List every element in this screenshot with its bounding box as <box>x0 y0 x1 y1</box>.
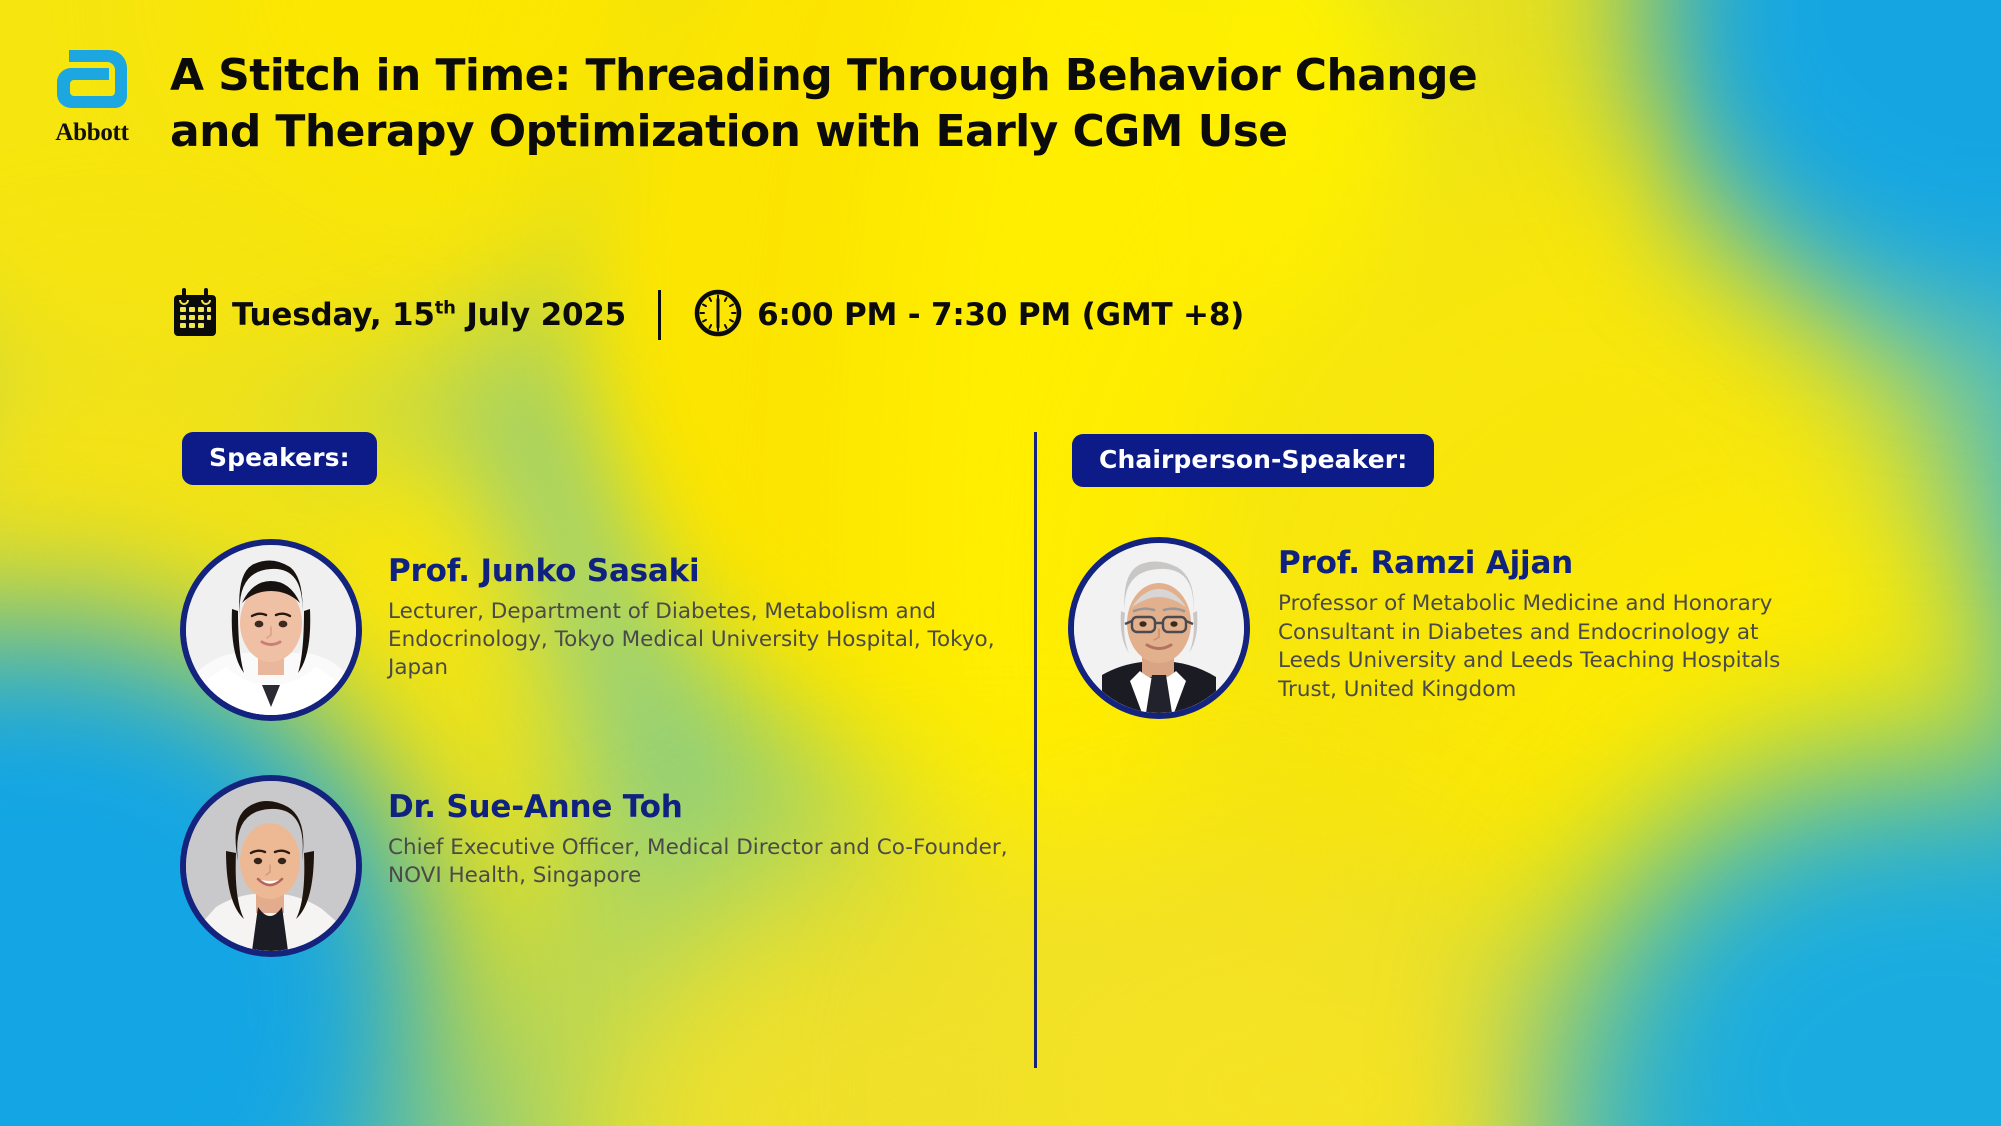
speaker-card: Prof. Ramzi Ajjan Professor of Metabolic… <box>1068 537 1818 719</box>
event-time: 6:00 PM - 7:30 PM (GMT +8) <box>693 288 1244 343</box>
speakers-column: Speakers: <box>180 432 1010 957</box>
title-line-1: A Stitch in Time: Threading Through Beha… <box>170 48 1490 104</box>
date-prefix: Tuesday, 15 <box>232 297 435 333</box>
chairperson-column: Chairperson-Speaker: <box>1068 434 1818 719</box>
date-suffix: July 2025 <box>466 297 626 333</box>
event-date-text: Tuesday, 15th July 2025 <box>232 297 626 333</box>
clock-icon <box>693 288 743 343</box>
event-time-text: 6:00 PM - 7:30 PM (GMT +8) <box>757 297 1244 333</box>
event-date: Tuesday, 15th July 2025 <box>172 288 626 343</box>
portrait-junko-sasaki <box>186 545 356 715</box>
abbott-logo: Abbott <box>47 40 137 147</box>
title-line-2: and Therapy Optimization with Early CGM … <box>170 104 1490 160</box>
abbott-wordmark: Abbott <box>47 119 137 147</box>
calendar-icon <box>172 288 218 343</box>
portrait-sue-anne-toh <box>186 781 356 951</box>
speaker-role: Professor of Metabolic Medicine and Hono… <box>1278 590 1818 704</box>
page-title: A Stitch in Time: Threading Through Beha… <box>170 48 1490 161</box>
avatar <box>1068 537 1250 719</box>
speaker-card: Dr. Sue-Anne Toh Chief Executive Officer… <box>180 775 1010 957</box>
meta-divider <box>658 290 661 340</box>
chairperson-badge: Chairperson-Speaker: <box>1072 434 1434 487</box>
speaker-name: Prof. Ramzi Ajjan <box>1278 545 1818 581</box>
speaker-card: Prof. Junko Sasaki Lecturer, Department … <box>180 539 1010 721</box>
avatar <box>180 775 362 957</box>
portrait-ramzi-ajjan <box>1074 543 1244 713</box>
abbott-a-logo-icon <box>47 40 137 118</box>
speaker-name: Prof. Junko Sasaki <box>388 553 1010 589</box>
date-ordinal: th <box>435 298 456 319</box>
speaker-name: Dr. Sue-Anne Toh <box>388 789 1010 825</box>
column-divider <box>1034 432 1037 1068</box>
speaker-role: Lecturer, Department of Diabetes, Metabo… <box>388 598 1010 682</box>
speakers-badge: Speakers: <box>182 432 377 485</box>
speaker-role: Chief Executive Officer, Medical Directo… <box>388 834 1010 890</box>
avatar <box>180 539 362 721</box>
event-meta: Tuesday, 15th July 2025 <box>172 286 1244 344</box>
